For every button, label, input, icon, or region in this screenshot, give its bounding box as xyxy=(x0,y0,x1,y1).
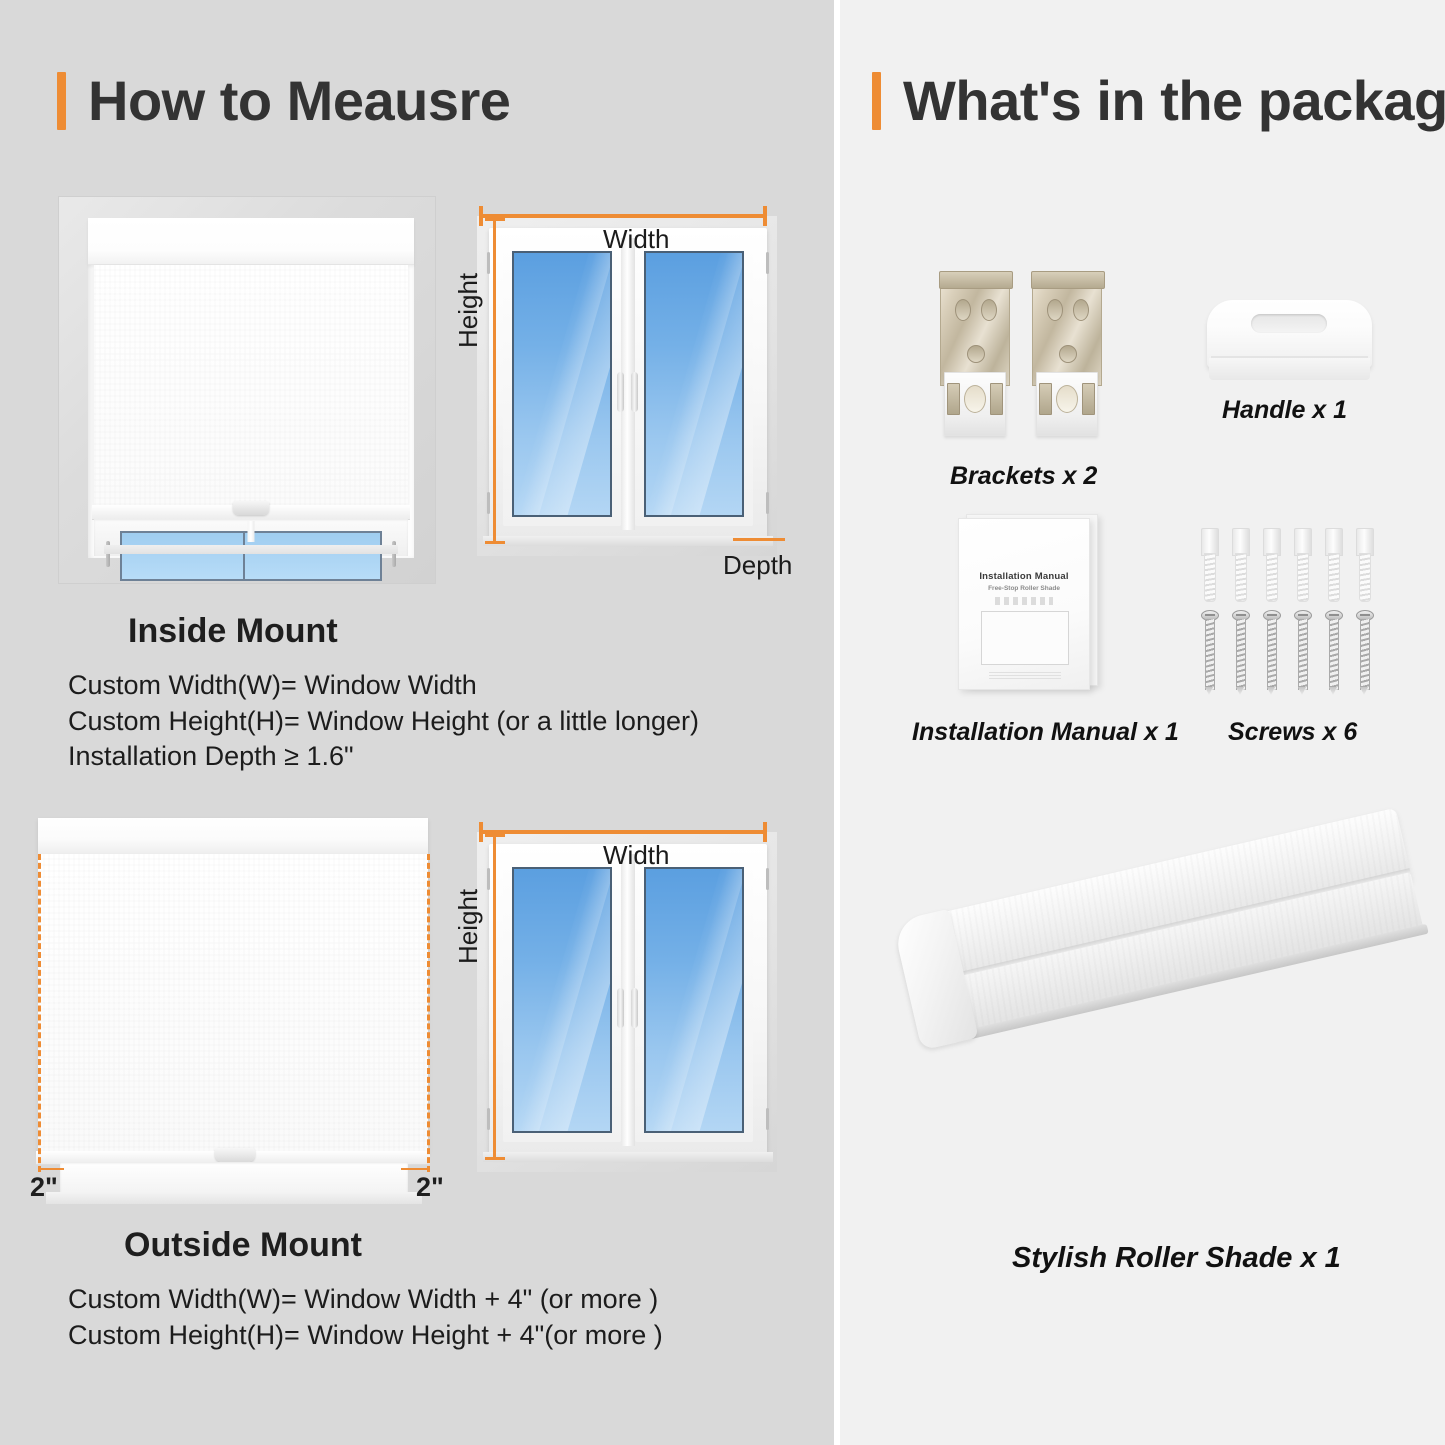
handle-image xyxy=(1207,300,1372,386)
width-measure-cap xyxy=(763,822,767,842)
wall-anchor-icon xyxy=(1262,528,1280,600)
height-measure-cap xyxy=(485,834,505,837)
bracket-side-tab xyxy=(1039,383,1052,415)
outside-mount-caption: Outside Mount xyxy=(124,1226,362,1265)
screw-slot xyxy=(1205,614,1215,616)
window-handle-icon xyxy=(631,372,638,412)
window-hinge xyxy=(487,1108,490,1130)
bracket-metal-body xyxy=(940,272,1010,386)
anchor-body xyxy=(1359,553,1371,602)
width-label: Width xyxy=(603,224,669,255)
glass-pane-left xyxy=(512,251,612,517)
bracket-slot xyxy=(981,299,997,321)
wall-anchor-icon xyxy=(1324,528,1342,600)
bracket-side-tab xyxy=(1082,383,1095,415)
width-measure-line xyxy=(479,214,767,218)
manual-cover-subtitle: Free-Stop Roller Shade xyxy=(969,585,1079,592)
anchor-body xyxy=(1235,553,1247,602)
accent-bar-icon xyxy=(57,72,66,130)
screw-shaft xyxy=(1267,619,1277,690)
anchor-head xyxy=(1325,528,1343,556)
inside-mount-shade-image xyxy=(58,196,436,584)
spec-line: Custom Width(W)= Window Width + 4" (or m… xyxy=(68,1282,663,1318)
overhang-arrow-right xyxy=(401,1168,427,1170)
anchor-body xyxy=(1297,553,1309,602)
shade-headrail xyxy=(38,818,428,854)
window-sill xyxy=(104,545,398,554)
height-measure-line xyxy=(493,834,496,1160)
anchor-head xyxy=(1263,528,1281,556)
bracket-icon xyxy=(940,272,1008,437)
screw-slot xyxy=(1329,614,1339,616)
window-frame xyxy=(489,228,767,540)
wall-anchor-icon xyxy=(1231,528,1249,600)
screw-shaft xyxy=(1236,619,1246,690)
inside-mount-caption: Inside Mount xyxy=(128,612,338,651)
bracket-side-tab xyxy=(947,383,960,415)
bracket-top-flange xyxy=(1031,271,1105,289)
window-hinge xyxy=(487,868,490,890)
window-hinge xyxy=(766,492,769,514)
window-sash-right xyxy=(635,242,753,526)
accent-bar-icon xyxy=(872,72,881,130)
bracket-slot xyxy=(967,345,985,363)
overhang-guide-line-left xyxy=(38,854,41,1172)
screws-label: Screws x 6 xyxy=(1228,718,1357,747)
brackets-label: Brackets x 2 xyxy=(950,462,1097,491)
screw-icon xyxy=(1201,610,1217,690)
spec-line: Installation Depth ≥ 1.6" xyxy=(68,739,699,775)
screw-slot xyxy=(1360,614,1370,616)
screw-slot xyxy=(1236,614,1246,616)
bracket-slot xyxy=(1059,345,1077,363)
inside-mount-measure-diagram: Width Height Depth xyxy=(455,198,805,588)
width-label: Width xyxy=(603,840,669,871)
bracket-slot xyxy=(1073,299,1089,321)
screw-shaft xyxy=(1360,619,1370,690)
anchor-head xyxy=(1201,528,1219,556)
overhang-guide-line-right xyxy=(427,854,430,1172)
height-measure-cap xyxy=(485,1157,505,1160)
handle-label: Handle x 1 xyxy=(1222,396,1347,425)
window-sash-right xyxy=(635,858,753,1142)
bracket-screw-hole xyxy=(964,385,986,413)
outside-mount-illustration: 2" 2" xyxy=(0,800,834,1230)
glass-pane-left xyxy=(512,867,612,1133)
infographic-page: How to Meausre What's in the package xyxy=(0,0,1445,1445)
window-ledge xyxy=(483,536,773,546)
roller-shade-label: Stylish Roller Shade x 1 xyxy=(1012,1242,1341,1275)
depth-measure-line xyxy=(733,538,785,541)
manual-icon: Installation Manual Free-Stop Roller Sha… xyxy=(958,518,1090,690)
glass-pane-right xyxy=(644,867,744,1133)
window-hinge xyxy=(487,492,490,514)
window-ledge xyxy=(483,1152,773,1162)
overhang-arrow-left xyxy=(38,1168,64,1170)
window-handle-icon xyxy=(631,988,638,1028)
window-handle-icon xyxy=(617,372,624,412)
window-hinge xyxy=(766,1108,769,1130)
window-hinge xyxy=(487,252,490,274)
shade-pull-handle-icon xyxy=(215,1148,255,1162)
width-measure-cap xyxy=(763,206,767,226)
height-measure-cap xyxy=(485,541,505,544)
window-sash-left xyxy=(503,242,621,526)
bracket-plastic-base xyxy=(944,372,1006,436)
bracket-slot xyxy=(955,299,971,321)
shade-fabric xyxy=(94,265,408,505)
window-sash-left xyxy=(503,858,621,1142)
bracket-plastic-base xyxy=(1036,372,1098,436)
height-measure-line xyxy=(493,218,496,544)
wall-anchor-icon xyxy=(1200,528,1218,600)
roller-shade-icon xyxy=(920,890,1430,1190)
anchor-head xyxy=(1294,528,1312,556)
overhang-label-left: 2" xyxy=(30,1172,58,1203)
glass-pane-right xyxy=(644,251,744,517)
shade-valance xyxy=(88,218,414,265)
how-to-measure-heading: How to Meausre xyxy=(57,72,510,130)
installation-manual-label: Installation Manual x 1 xyxy=(912,718,1179,747)
outside-mount-specs: Custom Width(W)= Window Width + 4" (or m… xyxy=(68,1282,663,1353)
window-hinge xyxy=(766,252,769,274)
shade-fabric xyxy=(38,854,428,1154)
screw-icon xyxy=(1263,610,1279,690)
anchor-body xyxy=(1328,553,1340,602)
window-below-shade xyxy=(60,1162,408,1194)
roller-shade-image xyxy=(900,880,1445,1220)
depth-label: Depth xyxy=(723,550,792,581)
window-recess xyxy=(88,218,414,558)
overhang-label-right: 2" xyxy=(416,1172,444,1203)
window-frame xyxy=(489,844,767,1156)
screw-shaft xyxy=(1205,619,1215,690)
screw-icon xyxy=(1356,610,1372,690)
glass-pane-left xyxy=(120,531,259,581)
window-mullion xyxy=(248,521,255,542)
bracket-icon xyxy=(1032,272,1100,437)
width-measure-cap xyxy=(479,822,483,842)
outside-mount-shade-image: 2" 2" xyxy=(20,810,440,1210)
handle-grip-slot xyxy=(1251,314,1327,333)
package-heading: What's in the package xyxy=(872,72,1445,130)
window-lower-section xyxy=(94,519,408,556)
shade-pull-handle-icon xyxy=(233,501,269,515)
spec-line: Custom Width(W)= Window Width xyxy=(68,668,699,704)
screw-icon xyxy=(1294,610,1310,690)
brackets-image xyxy=(932,272,1118,447)
height-label: Height xyxy=(453,273,484,348)
installation-manual-image: Installation Manual Free-Stop Roller Sha… xyxy=(958,518,1098,693)
width-measure-cap xyxy=(479,206,483,226)
bracket-top-flange xyxy=(939,271,1013,289)
anchor-head xyxy=(1356,528,1374,556)
bracket-metal-body xyxy=(1032,272,1102,386)
anchor-head xyxy=(1232,528,1250,556)
height-measure-cap xyxy=(485,218,505,221)
how-to-measure-title: How to Meausre xyxy=(88,73,510,129)
screw-icon xyxy=(1232,610,1248,690)
window-sill xyxy=(46,1192,422,1204)
window-handle-icon xyxy=(617,988,624,1028)
manual-cover-diagram xyxy=(981,611,1069,665)
anchor-body xyxy=(1266,553,1278,602)
height-label: Height xyxy=(453,889,484,964)
screws-image xyxy=(1200,528,1380,693)
manual-cover-footer xyxy=(989,671,1061,679)
wall-anchor-icon xyxy=(1355,528,1373,600)
outside-mount-measure-diagram: Width Height xyxy=(455,814,805,1194)
screw-slot xyxy=(1267,614,1277,616)
bracket-slot xyxy=(1047,299,1063,321)
wall-anchor-icon xyxy=(1293,528,1311,600)
glass-pane-right xyxy=(243,531,382,581)
handle-base xyxy=(1209,358,1370,380)
screw-slot xyxy=(1298,614,1308,616)
manual-cover-title: Installation Manual xyxy=(969,571,1079,582)
inside-mount-specs: Custom Width(W)= Window Width Custom Hei… xyxy=(68,668,699,775)
window-hinge xyxy=(766,868,769,890)
spec-line: Custom Height(H)= Window Height + 4"(or … xyxy=(68,1318,663,1354)
width-measure-line xyxy=(479,830,767,834)
screw-shaft xyxy=(1329,619,1339,690)
screw-icon xyxy=(1325,610,1341,690)
inside-mount-illustration: Width Height Depth xyxy=(0,190,834,600)
bracket-screw-hole xyxy=(1056,385,1078,413)
anchor-body xyxy=(1204,553,1216,602)
package-title: What's in the package xyxy=(903,73,1445,129)
screw-shaft xyxy=(1298,619,1308,690)
spec-line: Custom Height(H)= Window Height (or a li… xyxy=(68,704,699,740)
manual-cover-detail xyxy=(995,597,1053,605)
bracket-side-tab xyxy=(990,383,1003,415)
